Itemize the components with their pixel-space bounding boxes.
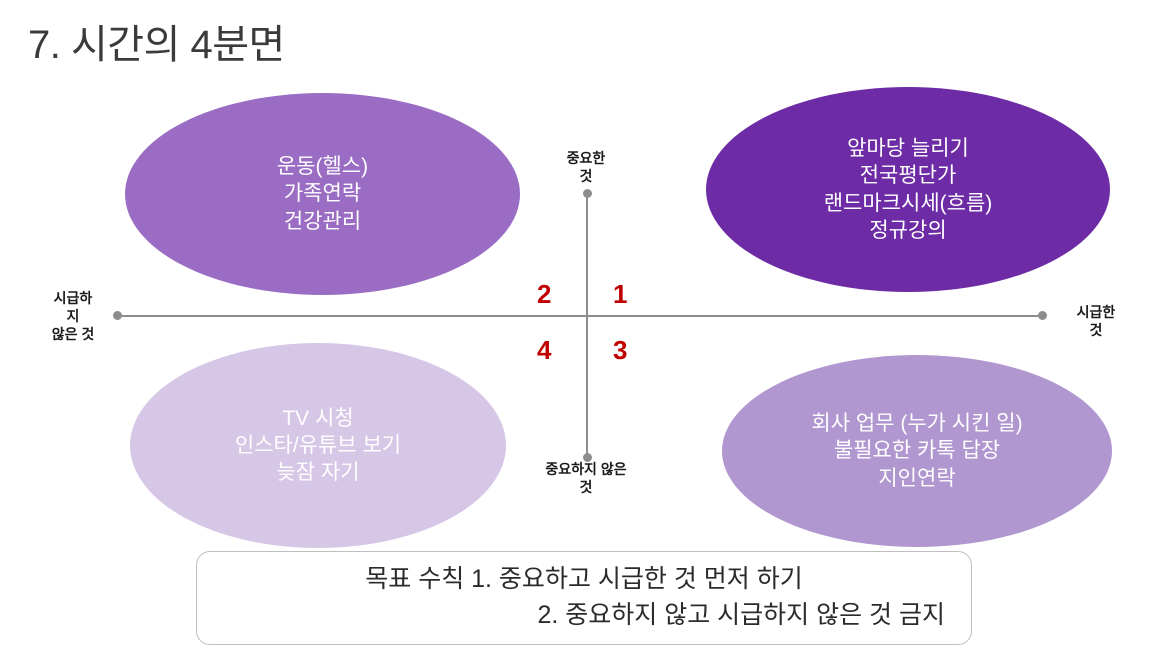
axis-label-line: 않은 것 xyxy=(34,325,112,343)
quadrant-number-top-right: 1 xyxy=(613,281,627,307)
vertical-axis-line xyxy=(586,193,588,458)
horizontal-axis-line xyxy=(117,315,1042,317)
axis-label-line: 시급하 xyxy=(34,289,112,307)
axis-label-line: 것 xyxy=(526,167,646,185)
quadrant-item: 불필요한 카톡 답장 xyxy=(834,437,1000,464)
axis-label-urgent: 시급한 것 xyxy=(1056,303,1136,339)
quadrant-item: 정규강의 xyxy=(869,217,946,244)
quadrant-ellipse-bottom-right[interactable]: 회사 업무 (누가 시킨 일) 불필요한 카톡 답장 지인연락 xyxy=(722,355,1112,547)
axis-label-line: 중요하지 않은 xyxy=(506,460,666,478)
quadrant-item: 운동(헬스) xyxy=(277,153,368,180)
quadrant-item: 회사 업무 (누가 시킨 일) xyxy=(811,410,1022,437)
quadrant-item: 건강관리 xyxy=(284,208,361,235)
axis-label-line: 것 xyxy=(1056,321,1136,339)
quadrant-ellipse-top-left[interactable]: 운동(헬스) 가족연락 건강관리 xyxy=(125,93,520,295)
quadrant-number-bottom-left: 4 xyxy=(537,337,551,363)
quadrant-ellipse-bottom-left[interactable]: TV 시청 인스타/유튜브 보기 늦잠 자기 xyxy=(130,343,506,548)
quadrant-number-top-left: 2 xyxy=(537,281,551,307)
goal-rules-box: 목표 수칙 1. 중요하고 시급한 것 먼저 하기 2. 중요하지 않고 시급하… xyxy=(196,551,972,645)
quadrant-item: 늦잠 자기 xyxy=(276,459,359,486)
page-title: 7. 시간의 4분면 xyxy=(28,12,285,70)
quadrant-item: 앞마당 늘리기 xyxy=(847,135,969,162)
axis-label-line: 중요한 xyxy=(526,149,646,167)
axis-label-line: 지 xyxy=(34,307,112,325)
axis-label-not-urgent: 시급하 지 않은 것 xyxy=(34,289,112,344)
axis-label-important: 중요한 것 xyxy=(526,149,646,185)
quadrant-item: TV 시청 xyxy=(282,405,353,432)
quadrant-item: 인스타/유튜브 보기 xyxy=(235,432,401,459)
goal-rule-line-2: 2. 중요하지 않고 시급하지 않은 것 금지 xyxy=(223,597,945,633)
quadrant-item: 랜드마크시세(흐름) xyxy=(824,190,993,217)
axis-label-line: 시급한 xyxy=(1056,303,1136,321)
axis-label-not-important: 중요하지 않은 것 xyxy=(506,460,666,496)
quadrant-item: 지인연락 xyxy=(878,465,955,492)
axis-endpoint-dot-right xyxy=(1038,311,1047,320)
goal-rule-line-1: 목표 수칙 1. 중요하고 시급한 것 먼저 하기 xyxy=(223,561,945,597)
axis-endpoint-dot-left xyxy=(113,311,122,320)
quadrant-ellipse-top-right[interactable]: 앞마당 늘리기 전국평단가 랜드마크시세(흐름) 정규강의 xyxy=(706,87,1110,292)
quadrant-item: 전국평단가 xyxy=(860,162,957,189)
axis-label-line: 것 xyxy=(506,478,666,496)
axis-endpoint-dot-top xyxy=(583,189,592,198)
quadrant-number-bottom-right: 3 xyxy=(613,337,627,363)
quadrant-item: 가족연락 xyxy=(284,180,361,207)
